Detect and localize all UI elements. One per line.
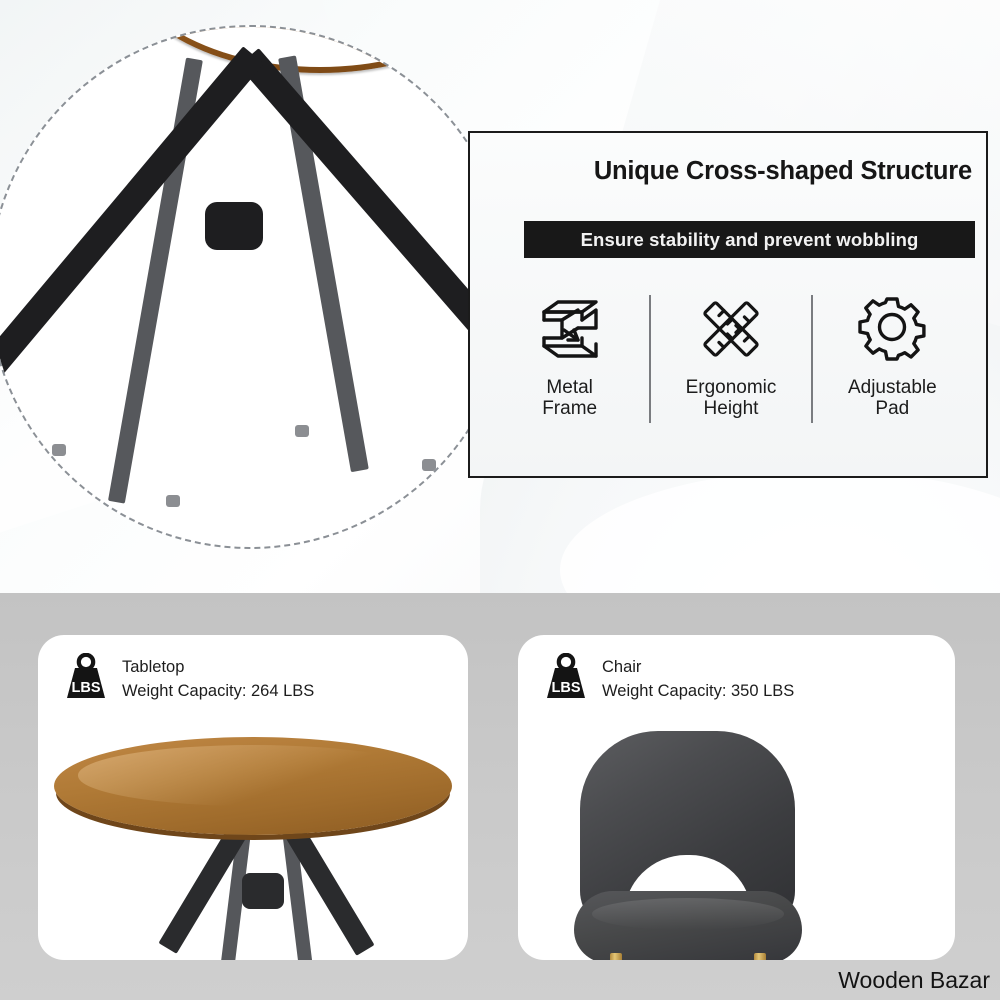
top-section: Unique Cross-shaped Structure Ensure sta… <box>0 0 1000 593</box>
chair-leg-front-left <box>610 953 622 960</box>
cross-hub <box>205 202 263 250</box>
table-base-illustration <box>0 27 510 547</box>
chair-seat <box>574 891 802 960</box>
feature-metal-frame-label: Metal Frame <box>542 377 597 420</box>
card-chair-text: Chair Weight Capacity: 350 LBS <box>602 656 794 704</box>
card-tabletop-title: Tabletop <box>122 656 314 680</box>
panel-subtitle-bar: Ensure stability and prevent wobbling <box>524 221 975 258</box>
svg-text:LBS: LBS <box>552 680 581 696</box>
chair-image <box>518 727 955 960</box>
table-foot-right <box>422 459 436 471</box>
feature-ergonomic-height-label: Ergonomic Height <box>686 377 777 420</box>
feature-list: Metal Frame <box>490 285 972 455</box>
card-chair-header: LBS Chair Weight Capacity: 350 LBS <box>544 653 794 706</box>
crossed-rulers-icon <box>695 293 767 365</box>
card-tabletop-text: Tabletop Weight Capacity: 264 LBS <box>122 656 314 704</box>
panel-subtitle-text: Ensure stability and prevent wobbling <box>581 229 919 251</box>
gear-icon <box>857 293 927 365</box>
panel-title: Unique Cross-shaped Structure <box>470 157 972 186</box>
table-foot-back-left <box>166 495 180 507</box>
detail-zoom-circle <box>0 25 512 549</box>
card-chair-capacity: Weight Capacity: 350 LBS <box>602 680 794 704</box>
feature-panel: Unique Cross-shaped Structure Ensure sta… <box>468 131 988 478</box>
feature-adjustable-pad: Adjustable Pad <box>813 285 972 420</box>
card-tabletop-header: LBS Tabletop Weight Capacity: 264 LBS <box>64 653 314 706</box>
tabletop-image <box>38 731 468 960</box>
card-tabletop: LBS Tabletop Weight Capacity: 264 LBS <box>38 635 468 960</box>
card-chair: LBS Chair Weight Capacity: 350 LBS <box>518 635 955 960</box>
watermark: Wooden Bazar <box>838 967 990 994</box>
card-chair-title: Chair <box>602 656 794 680</box>
feature-adjustable-pad-label: Adjustable Pad <box>848 377 937 420</box>
table-cross-hub <box>242 873 284 909</box>
table-foot-back-right <box>295 425 309 437</box>
feature-metal-frame: Metal Frame <box>490 285 649 420</box>
product-infographic: Unique Cross-shaped Structure Ensure sta… <box>0 0 1000 1000</box>
lbs-weight-icon: LBS <box>544 653 588 706</box>
tabletop-surface <box>54 737 452 835</box>
metal-beam-icon <box>534 293 606 365</box>
bottom-section: LBS Tabletop Weight Capacity: 264 LBS <box>0 593 1000 1000</box>
table-foot-left <box>52 444 66 456</box>
chair-leg-front-right <box>754 953 766 960</box>
lbs-weight-icon: LBS <box>64 653 108 706</box>
svg-text:LBS: LBS <box>72 680 101 696</box>
card-tabletop-capacity: Weight Capacity: 264 LBS <box>122 680 314 704</box>
feature-ergonomic-height: Ergonomic Height <box>651 285 810 420</box>
